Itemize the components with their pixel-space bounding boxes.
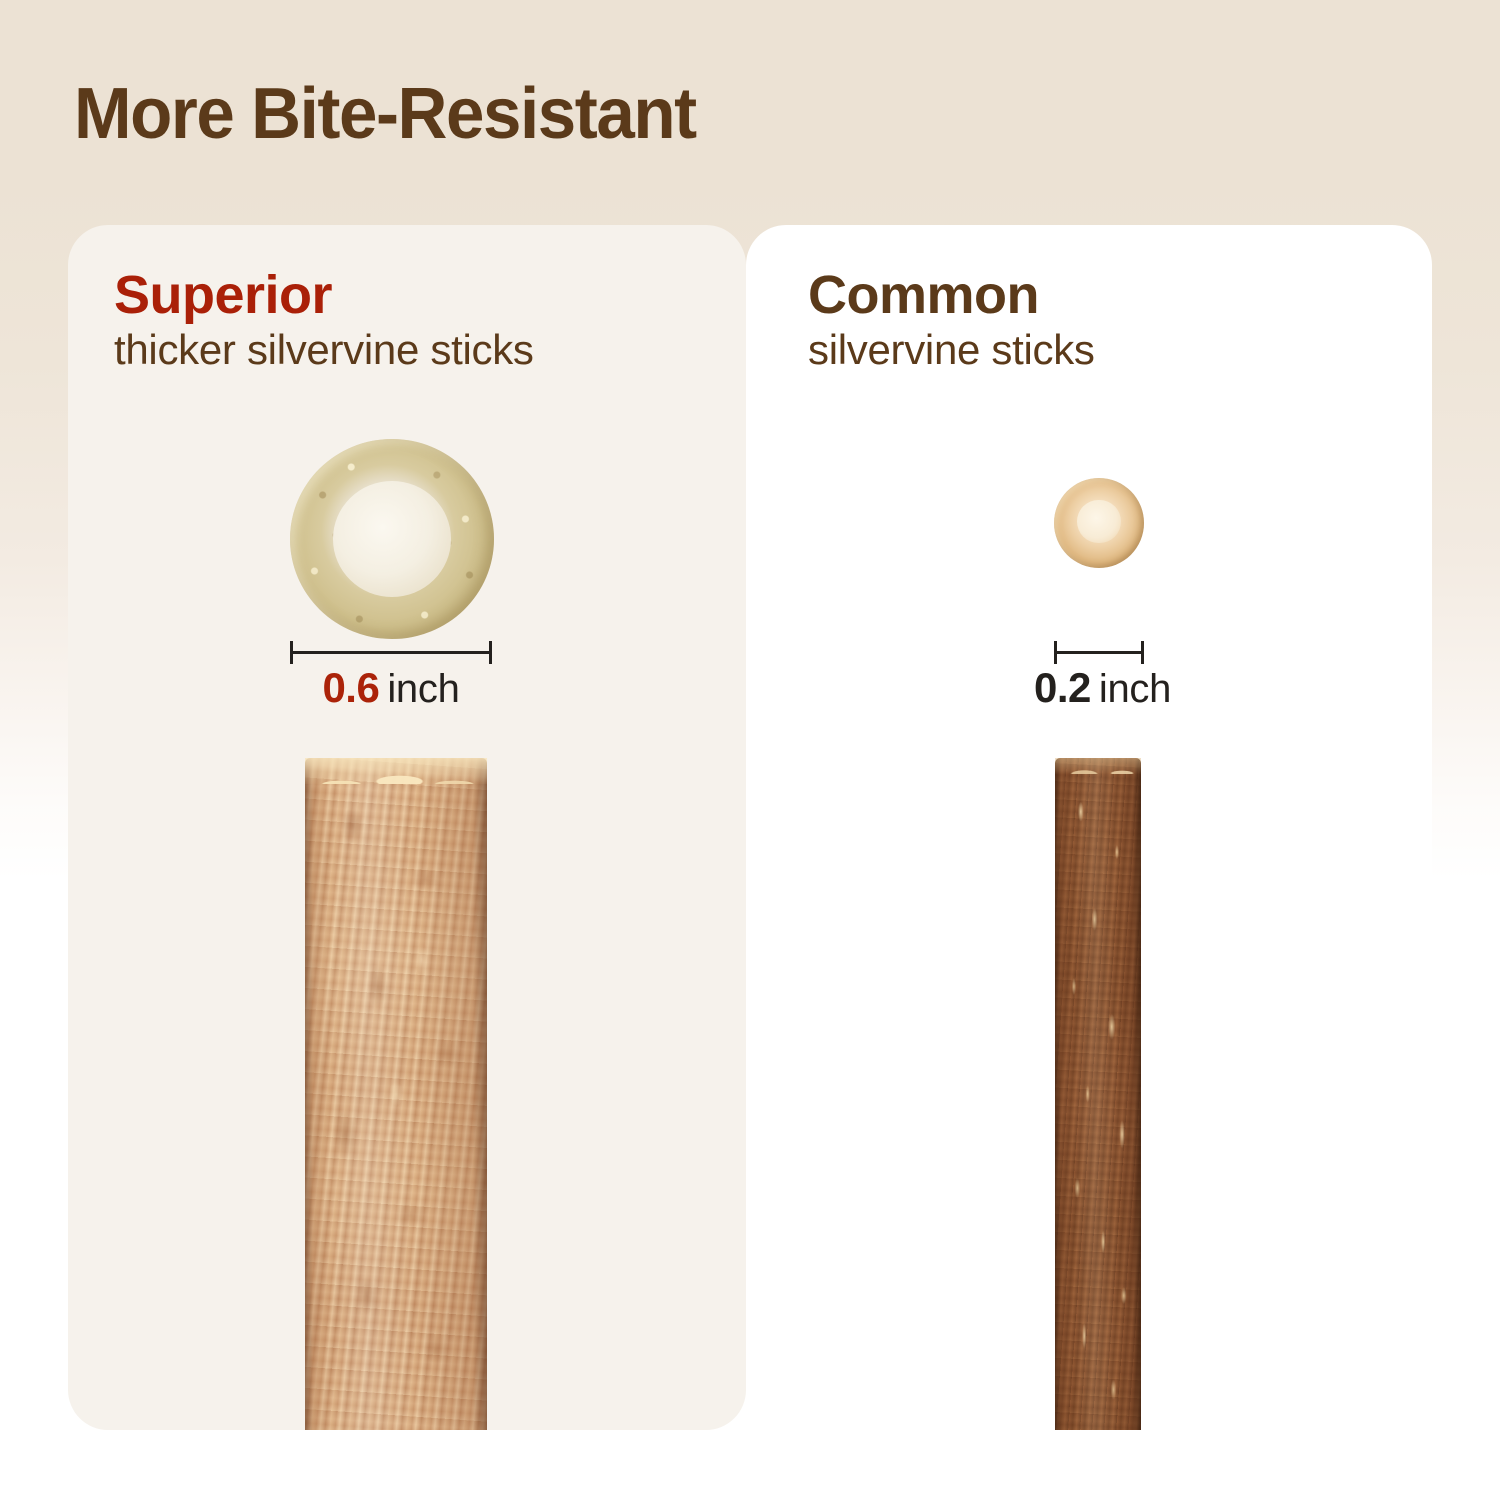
- card-label-common: Common: [808, 267, 1095, 324]
- measurement-value-superior: 0.6: [322, 664, 379, 711]
- measurement-superior: 0.6inch: [290, 667, 492, 709]
- dimension-ruler-common-icon: [1054, 641, 1144, 663]
- ruler-bar-icon: [290, 651, 492, 654]
- comparison-card-common: Common silvervine sticks 0.2inch: [746, 225, 1432, 1430]
- card-heading-superior: Superior thicker silvervine sticks: [114, 267, 534, 373]
- infographic-page: More Bite-Resistant Superior thicker sil…: [0, 0, 1500, 1500]
- ruler-cap-right-icon: [489, 641, 492, 664]
- ruler-bar-icon: [1054, 651, 1144, 654]
- silvervine-stick-thick-image: [305, 758, 487, 1430]
- page-title: More Bite-Resistant: [74, 78, 696, 150]
- stick-cross-section-thick-icon: [290, 439, 494, 639]
- card-subtitle-common: silvervine sticks: [808, 328, 1095, 373]
- ruler-cap-right-icon: [1141, 641, 1144, 664]
- comparison-card-superior: Superior thicker silvervine sticks 0.6in…: [68, 225, 746, 1430]
- measurement-common: 0.2inch: [1034, 667, 1164, 709]
- stick-cross-section-thin-icon: [1054, 478, 1144, 568]
- card-subtitle-superior: thicker silvervine sticks: [114, 328, 534, 373]
- card-heading-common: Common silvervine sticks: [808, 267, 1095, 373]
- measurement-unit-superior: inch: [387, 667, 459, 711]
- dimension-ruler-superior-icon: [290, 641, 492, 663]
- measurement-value-common: 0.2: [1034, 664, 1091, 711]
- card-label-superior: Superior: [114, 267, 534, 324]
- measurement-unit-common: inch: [1099, 667, 1171, 711]
- silvervine-stick-thin-image: [1055, 758, 1141, 1430]
